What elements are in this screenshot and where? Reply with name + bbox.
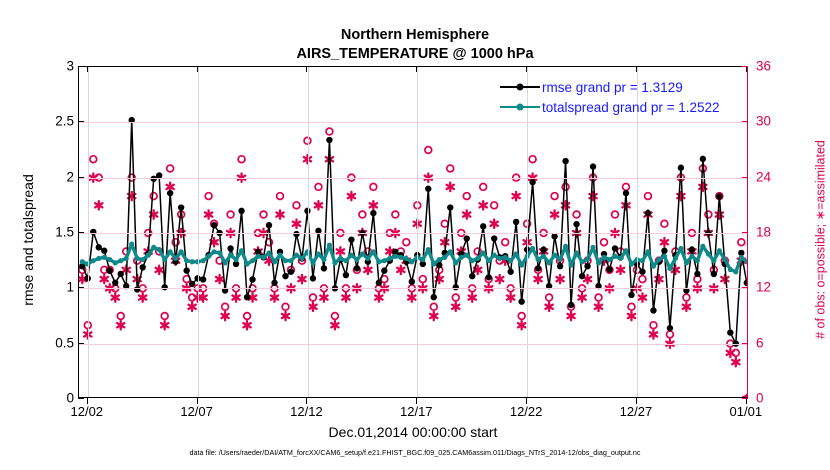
y2-tick — [742, 232, 748, 233]
obs-possible-marker — [463, 193, 470, 200]
gridline-vertical — [308, 67, 309, 397]
x-tick-top — [306, 66, 307, 72]
totalspread-point — [288, 258, 293, 263]
totalspread-point — [222, 260, 227, 265]
totalspread-point — [656, 257, 661, 262]
rmse-point — [606, 266, 612, 272]
obs-possible-marker — [419, 276, 426, 283]
totalspread-point — [607, 257, 612, 262]
rmse-point — [310, 275, 316, 281]
rmse-point — [370, 210, 376, 216]
rmse-point — [282, 273, 288, 279]
totalspread-point — [404, 256, 409, 261]
totalspread-point — [184, 258, 189, 263]
totalspread-point — [299, 256, 304, 261]
obs-possible-marker — [150, 193, 157, 200]
totalspread-point — [563, 244, 568, 249]
rmse-point — [381, 267, 387, 273]
rmse-point — [425, 186, 431, 192]
totalspread-point — [733, 269, 738, 274]
y-tick-label: 1 — [66, 280, 74, 295]
y2-tick-label: 0 — [756, 391, 764, 406]
totalspread-point — [135, 256, 140, 261]
totalspread-point — [283, 258, 288, 263]
totalspread-point — [568, 262, 573, 267]
y-tick — [78, 66, 84, 67]
legend: rmse grand pr = 1.3129 totalspread grand… — [497, 76, 723, 119]
rmse-point — [266, 222, 272, 228]
totalspread-point — [398, 255, 403, 260]
y2-tick — [742, 398, 748, 399]
rmse-point — [118, 271, 124, 277]
totalspread-point — [244, 261, 249, 266]
totalspread-point — [201, 258, 206, 263]
totalspread-point — [722, 257, 727, 262]
rmse-point — [288, 269, 294, 275]
y2-axis-label: # of obs: o=possible; ∗=assimilated — [813, 80, 828, 400]
totalspread-point — [250, 258, 255, 263]
gridline-vertical — [88, 67, 89, 397]
rmse-point — [491, 235, 497, 241]
obs-possible-marker — [282, 303, 289, 310]
y2-tick-label: 12 — [756, 280, 771, 295]
rmse-point — [639, 269, 645, 275]
rmse-point — [167, 190, 173, 196]
obs-possible-marker — [425, 147, 432, 154]
obs-possible-marker — [573, 211, 580, 218]
totalspread-point — [382, 258, 387, 263]
totalspread-point — [321, 257, 326, 262]
totalspread-point — [217, 250, 222, 255]
totalspread-point — [233, 257, 238, 262]
y2-tick — [742, 287, 748, 288]
chart-title: Northern Hemisphere AIRS_TEMPERATURE @ 1… — [0, 26, 830, 64]
rmse-point — [107, 267, 113, 273]
totalspread-point — [706, 251, 711, 256]
totalspread-point — [277, 253, 282, 258]
y-axis-label: rmse and totalspread — [20, 90, 36, 390]
obs-possible-marker — [227, 211, 234, 218]
obs-possible-marker — [244, 313, 251, 320]
rmse-point — [623, 190, 629, 196]
rmse-point — [645, 210, 651, 216]
totalspread-point — [470, 258, 475, 263]
totalspread-point — [239, 248, 244, 253]
obs-possible-marker — [639, 276, 646, 283]
totalspread-point — [481, 250, 486, 255]
totalspread-point — [645, 249, 650, 254]
legend-marker-totalspread — [500, 100, 540, 114]
totalspread-point — [211, 249, 216, 254]
totalspread-point — [157, 247, 162, 252]
obs-possible-marker — [293, 202, 300, 209]
rmse-point — [689, 246, 695, 252]
y-tick-label: 0.5 — [55, 335, 74, 350]
x-tick-top — [197, 66, 198, 72]
rmse-point — [238, 208, 244, 214]
rmse-point — [590, 163, 596, 169]
totalspread-point — [574, 250, 579, 255]
totalspread-point — [557, 257, 562, 262]
obs-possible-marker — [430, 303, 437, 310]
totalspread-point — [387, 256, 392, 261]
rmse-point — [90, 229, 96, 235]
obs-possible-marker — [359, 211, 366, 218]
totalspread-point — [129, 241, 134, 246]
totalspread-point — [546, 260, 551, 265]
y2-tick-label: 24 — [756, 169, 771, 184]
obs-possible-marker — [491, 202, 498, 209]
obs-possible-marker — [238, 156, 245, 163]
x-tick-top — [526, 66, 527, 72]
obs-possible-marker — [738, 239, 745, 246]
rmse-point — [535, 265, 541, 271]
obs-possible-marker — [601, 239, 608, 246]
x-tick-label: 12/07 — [180, 404, 213, 419]
rmse-point — [584, 263, 590, 269]
obs-possible-marker — [332, 313, 339, 320]
obs-possible-marker — [447, 165, 454, 172]
totalspread-point — [519, 262, 524, 267]
rmse-point — [161, 284, 167, 290]
totalspread-point — [739, 255, 744, 260]
rmse-point — [178, 204, 184, 210]
obs-possible-marker — [551, 193, 558, 200]
rmse-point — [354, 265, 360, 271]
series-rmse — [79, 117, 748, 347]
rmse-point — [469, 273, 475, 279]
gridline-horizontal — [79, 122, 747, 123]
rmse-point — [453, 284, 459, 290]
totalspread-point — [80, 259, 85, 264]
totalspread-point — [700, 244, 705, 249]
totalspread-point — [590, 245, 595, 250]
totalspread-point — [190, 259, 195, 264]
obs-possible-marker — [546, 294, 553, 301]
rmse-point — [744, 280, 748, 286]
gridline-vertical — [417, 67, 418, 397]
rmse-point — [134, 286, 140, 292]
chart-page: Northern Hemisphere AIRS_TEMPERATURE @ 1… — [0, 0, 830, 470]
y2-tick — [742, 66, 748, 67]
rmse-point — [711, 271, 717, 277]
totalspread-point — [146, 253, 151, 258]
rmse-point — [150, 176, 156, 182]
rmse-point — [661, 248, 667, 254]
totalspread-point — [453, 260, 458, 265]
x-tick-top — [416, 66, 417, 72]
totalspread-point — [514, 251, 519, 256]
totalspread-point — [684, 260, 689, 265]
totalspread-point — [667, 266, 672, 271]
rmse-point — [562, 158, 568, 164]
gridline-vertical — [198, 67, 199, 397]
totalspread-point — [371, 249, 376, 254]
legend-marker-rmse — [500, 80, 540, 94]
totalspread-point — [689, 254, 694, 259]
rmse-point — [694, 271, 700, 277]
y-tick-label: 2 — [66, 169, 74, 184]
totalspread-point — [437, 257, 442, 262]
rmse-point — [568, 302, 574, 308]
totalspread-point — [508, 258, 513, 263]
totalspread-point — [420, 257, 425, 262]
legend-label-rmse: rmse grand pr = 1.3129 — [540, 80, 683, 95]
totalspread-point — [124, 256, 129, 261]
y-tick — [78, 121, 84, 122]
rmse-point — [249, 276, 255, 282]
totalspread-point — [426, 247, 431, 252]
gridline-horizontal — [79, 178, 747, 179]
rmse-point — [612, 245, 618, 251]
totalspread-point — [118, 258, 123, 263]
obs-possible-marker — [645, 193, 652, 200]
rmse-point — [271, 280, 277, 286]
x-tick-label: 12/22 — [510, 404, 543, 419]
x-tick-label: 12/17 — [400, 404, 433, 419]
totalspread-point — [448, 249, 453, 254]
totalspread-point — [354, 257, 359, 262]
rmse-point — [551, 233, 557, 239]
totalspread-point — [162, 257, 167, 262]
rmse-point — [667, 325, 673, 331]
obs-possible-marker — [661, 220, 668, 227]
obs-possible-marker — [315, 183, 322, 190]
rmse-point — [293, 231, 299, 237]
obs-possible-marker — [117, 313, 124, 320]
obs-possible-marker — [628, 303, 635, 310]
obs-possible-marker — [167, 165, 174, 172]
rmse-point — [348, 236, 354, 242]
totalspread-point — [673, 256, 678, 261]
rmse-point — [343, 272, 349, 278]
totalspread-point — [623, 248, 628, 253]
x-tick-label: 01/01 — [730, 404, 763, 419]
title-line-1: Northern Hemisphere — [0, 26, 830, 45]
totalspread-point — [541, 254, 546, 259]
obs-possible-marker — [705, 211, 712, 218]
totalspread-point — [327, 243, 332, 248]
obs-possible-marker — [205, 193, 212, 200]
rmse-point — [447, 204, 453, 210]
obs-possible-marker — [595, 294, 602, 301]
totalspread-point — [151, 245, 156, 250]
y2-tick-label: 36 — [756, 59, 771, 74]
rmse-point — [650, 307, 656, 313]
totalspread-point — [585, 257, 590, 262]
rmse-point — [326, 137, 332, 143]
totalspread-point — [261, 255, 266, 260]
obs-possible-marker — [667, 331, 674, 338]
totalspread-point — [596, 260, 601, 265]
y2-tick-label: 18 — [756, 225, 771, 240]
totalspread-point — [316, 251, 321, 256]
y-tick — [78, 287, 84, 288]
rmse-point — [376, 280, 382, 286]
totalspread-point — [349, 253, 354, 258]
totalspread-point — [629, 261, 634, 266]
totalspread-point — [601, 255, 606, 260]
obs-possible-marker — [683, 294, 690, 301]
obs-possible-marker — [562, 183, 569, 190]
rmse-point — [244, 294, 250, 300]
totalspread-point — [651, 264, 656, 269]
rmse-point — [529, 179, 535, 185]
rmse-point — [101, 248, 107, 254]
rmse-point — [579, 273, 585, 279]
totalspread-point — [96, 256, 101, 261]
rmse-point — [480, 223, 486, 229]
obs-possible-marker — [277, 193, 284, 200]
rmse-point — [678, 165, 684, 171]
title-line-2: AIRS_TEMPERATURE @ 1000 hPa — [0, 45, 830, 64]
totalspread-point — [228, 253, 233, 258]
totalspread-point — [409, 259, 414, 264]
totalspread-point — [503, 255, 508, 260]
y2-tick — [742, 343, 748, 344]
totalspread-point — [728, 267, 733, 272]
obs-possible-marker — [90, 156, 97, 163]
y-tick — [78, 177, 84, 178]
totalspread-point — [695, 258, 700, 263]
totalspread-point — [711, 258, 716, 263]
rmse-point — [321, 265, 327, 271]
rmse-point — [573, 221, 579, 227]
y-tick — [78, 343, 84, 344]
rmse-point — [431, 294, 437, 300]
obs-possible-marker — [452, 294, 459, 301]
y2-tick-label: 6 — [756, 335, 764, 350]
obs-possible-marker — [518, 313, 525, 320]
totalspread-point — [678, 246, 683, 251]
totalspread-point — [91, 258, 96, 263]
obs-possible-marker — [403, 239, 410, 246]
totalspread-point — [294, 253, 299, 258]
totalspread-point — [310, 260, 315, 265]
obs-possible-marker — [222, 303, 229, 310]
totalspread-point — [179, 249, 184, 254]
totalspread-point — [272, 259, 277, 264]
rmse-point — [409, 278, 415, 284]
totalspread-point — [173, 256, 178, 261]
totalspread-point — [717, 248, 722, 253]
obs-possible-marker — [161, 313, 168, 320]
x-tick-label: 12/02 — [71, 404, 104, 419]
totalspread-point — [168, 249, 173, 254]
rmse-point — [700, 156, 706, 162]
obs-possible-marker — [623, 183, 630, 190]
totalspread-point — [255, 254, 260, 259]
legend-item-totalspread: totalspread grand pr = 1.2522 — [500, 97, 720, 117]
totalspread-point — [536, 257, 541, 262]
data-file-path: data file: /Users/raeder/DAI/ATM_forcXX/… — [0, 448, 830, 457]
rmse-point — [628, 292, 634, 298]
rmse-point — [96, 244, 102, 250]
obs-possible-marker — [480, 183, 487, 190]
rmse-point — [513, 219, 519, 225]
totalspread-point — [431, 261, 436, 266]
totalspread-point — [486, 258, 491, 263]
totalspread-point — [338, 256, 343, 261]
obs-possible-marker — [502, 239, 509, 246]
totalspread-point — [266, 250, 271, 255]
rmse-point — [557, 263, 563, 269]
totalspread-point — [343, 258, 348, 263]
totalspread-point — [640, 258, 645, 263]
obs-possible-marker — [326, 128, 333, 135]
x-tick-top — [87, 66, 88, 72]
totalspread-point — [459, 255, 464, 260]
totalspread-point — [497, 256, 502, 261]
legend-item-rmse: rmse grand pr = 1.3129 — [500, 77, 720, 97]
rmse-point — [189, 281, 195, 287]
y2-tick — [742, 177, 748, 178]
y-tick-label: 2.5 — [55, 114, 74, 129]
obs-possible-marker — [529, 156, 536, 163]
rmse-point — [507, 269, 513, 275]
rmse-point — [727, 329, 733, 335]
x-tick-label: 12/12 — [290, 404, 323, 419]
rmse-point — [112, 280, 118, 286]
y-tick-label: 3 — [66, 59, 74, 74]
totalspread-point — [107, 257, 112, 262]
totalspread-point — [332, 260, 337, 265]
rmse-point — [211, 222, 217, 228]
totalspread-point — [618, 256, 623, 261]
y-tick-label: 1.5 — [55, 225, 74, 240]
totalspread-point — [530, 246, 535, 251]
x-axis-label: Dec.01,2014 00:00:00 start — [78, 424, 748, 440]
rmse-point — [183, 267, 189, 273]
rmse-point — [200, 276, 206, 282]
obs-possible-marker — [392, 211, 399, 218]
y-tick — [78, 232, 84, 233]
obs-possible-marker — [441, 220, 448, 227]
rmse-point — [140, 264, 146, 270]
gridline-horizontal — [79, 288, 747, 289]
y-tick-label: 0 — [66, 391, 74, 406]
totalspread-point — [612, 254, 617, 259]
rmse-point — [540, 246, 546, 252]
legend-label-totalspread: totalspread grand pr = 1.2522 — [540, 100, 720, 115]
x-tick-top — [636, 66, 637, 72]
rmse-point — [518, 298, 524, 304]
totalspread-point — [113, 260, 118, 265]
totalspread-point — [206, 254, 211, 259]
rmse-point — [485, 274, 491, 280]
totalspread-point — [662, 254, 667, 259]
obs-possible-marker — [650, 322, 657, 329]
obs-possible-marker — [370, 183, 377, 190]
y2-tick — [742, 121, 748, 122]
totalspread-point — [442, 255, 447, 260]
totalspread-point — [475, 256, 480, 261]
y2-tick-label: 30 — [756, 114, 771, 129]
totalspread-point — [552, 253, 557, 258]
gridline-horizontal — [79, 233, 747, 234]
obs-possible-marker — [260, 211, 267, 218]
totalspread-point — [140, 257, 145, 262]
rmse-point — [227, 245, 233, 251]
totalspread-point — [360, 251, 365, 256]
obs-possible-marker — [612, 211, 619, 218]
rmse-point — [464, 235, 470, 241]
totalspread-point — [492, 253, 497, 258]
gridline-horizontal — [79, 344, 747, 345]
totalspread-point — [393, 254, 398, 259]
x-tick-label: 12/27 — [620, 404, 653, 419]
totalspread-point — [464, 253, 469, 258]
